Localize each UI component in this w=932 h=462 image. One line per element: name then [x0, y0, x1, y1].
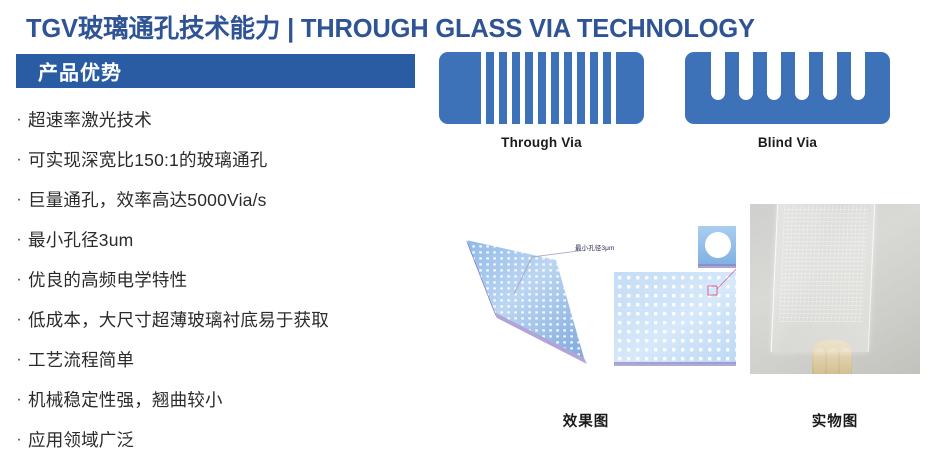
- advantage-text: 低成本，大尺寸超薄玻璃衬底易于获取: [28, 300, 329, 340]
- list-item: · 应用领域广泛: [10, 420, 430, 460]
- glass-panel-photo: [750, 204, 920, 374]
- list-item: · 巨量通孔，效率高达5000Via/s: [10, 180, 430, 220]
- figures-panel: Through Via Blind Via: [430, 52, 932, 462]
- advantage-text: 超速率激光技术: [28, 100, 152, 140]
- advantage-list: · 超速率激光技术 · 可实现深宽比150:1的玻璃通孔 · 巨量通孔，效率高达…: [10, 100, 430, 460]
- advantage-text: 巨量通孔，效率高达5000Via/s: [28, 180, 267, 220]
- list-item: · 超速率激光技术: [10, 100, 430, 140]
- through-via-icon: [439, 52, 644, 124]
- list-item: · 可实现深宽比150:1的玻璃通孔: [10, 140, 430, 180]
- blind-via-caption: Blind Via: [685, 135, 890, 150]
- transparent-glass-panel: [771, 204, 876, 352]
- bullet-icon: ·: [10, 100, 28, 140]
- advantage-text: 应用领域广泛: [28, 420, 134, 460]
- section-banner-label: 产品优势: [38, 57, 122, 86]
- tilted-plate: [466, 240, 587, 364]
- bottom-figures: 最小孔径3μm 效果图 实物图: [430, 202, 932, 462]
- bullet-icon: ·: [10, 300, 28, 340]
- magnified-hole-inset: [698, 226, 736, 268]
- bullet-icon: ·: [10, 140, 28, 180]
- advantage-text: 机械稳定性强，翘曲较小: [28, 380, 223, 420]
- render-svg: [436, 202, 736, 402]
- via-schematics: Through Via Blind Via: [430, 52, 932, 177]
- advantage-text: 最小孔径3um: [28, 220, 133, 260]
- bullet-icon: ·: [10, 340, 28, 380]
- through-via-figure: Through Via: [439, 52, 644, 150]
- bullet-icon: ·: [10, 380, 28, 420]
- bullet-icon: ·: [10, 180, 28, 220]
- bullet-icon: ·: [10, 260, 28, 300]
- list-item: · 最小孔径3um: [10, 220, 430, 260]
- advantage-text: 工艺流程简单: [28, 340, 134, 380]
- render-caption: 效果图: [436, 410, 736, 431]
- list-item: · 机械稳定性强，翘曲较小: [10, 380, 430, 420]
- photo-caption: 实物图: [750, 410, 920, 431]
- through-via-caption: Through Via: [439, 135, 644, 150]
- blind-via-icon: [685, 52, 890, 124]
- blind-via-figure: Blind Via: [685, 52, 890, 150]
- advantage-text: 可实现深宽比150:1的玻璃通孔: [28, 140, 268, 180]
- section-banner: 产品优势: [16, 54, 415, 88]
- perforated-glass-illustration: 最小孔径3μm: [436, 202, 736, 402]
- advantage-text: 优良的高频电学特性: [28, 260, 187, 300]
- advantages-panel: 产品优势 · 超速率激光技术 · 可实现深宽比150:1的玻璃通孔 · 巨量通孔…: [0, 52, 430, 462]
- bullet-icon: ·: [10, 420, 28, 460]
- min-hole-diameter-annotation: 最小孔径3μm: [575, 242, 614, 252]
- page-title: TGV玻璃通孔技术能力 | THROUGH GLASS VIA TECHNOLO…: [26, 8, 755, 45]
- list-item: · 工艺流程简单: [10, 340, 430, 380]
- via-array-texture: [779, 206, 868, 322]
- list-item: · 低成本，大尺寸超薄玻璃衬底易于获取: [10, 300, 430, 340]
- list-item: · 优良的高频电学特性: [10, 260, 430, 300]
- flat-plate: [614, 272, 736, 366]
- bullet-icon: ·: [10, 220, 28, 260]
